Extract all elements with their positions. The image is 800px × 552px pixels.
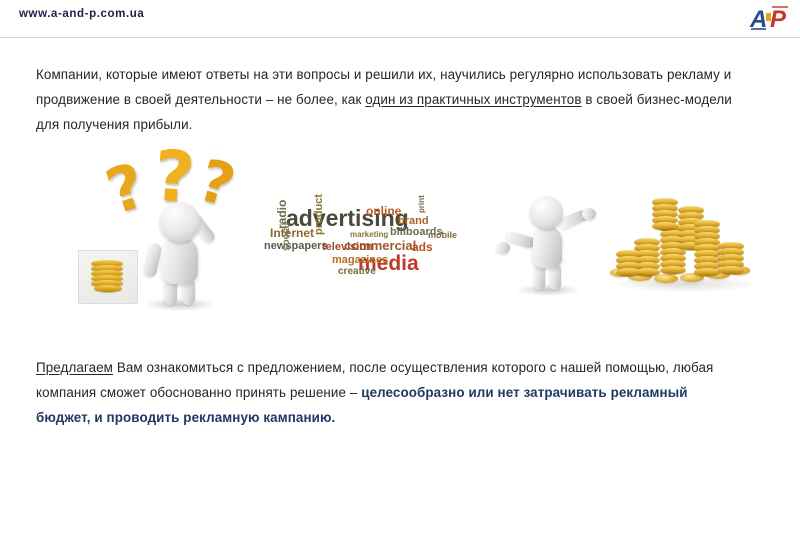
word-cloud-word: online: [366, 205, 401, 217]
figure-hand-right: [582, 208, 596, 220]
coin-stack-thumbnail: [78, 250, 138, 304]
page-header: www.a-and-p.com.ua A P: [0, 0, 800, 38]
question-mark-icon: ?: [99, 154, 152, 224]
word-cloud-word: social: [282, 223, 292, 251]
question-mark-icon: ?: [193, 150, 241, 215]
figure-head: [530, 196, 563, 229]
figure-shadow: [516, 284, 580, 296]
word-cloud-word: brand: [398, 216, 429, 227]
a-and-p-logo[interactable]: A P: [748, 2, 792, 34]
figure-head: [160, 202, 200, 242]
figure-hand-left: [496, 242, 510, 254]
paragraph-top-underlined: один из практичных инструментов: [365, 92, 581, 107]
word-cloud-word: magazines: [332, 255, 388, 266]
site-url-text: www.a-and-p.com.ua: [19, 8, 144, 20]
word-cloud-word: product: [314, 194, 325, 235]
word-cloud-word: print: [418, 195, 426, 213]
word-cloud-word: mobile: [428, 231, 457, 240]
figure-body: [162, 236, 198, 284]
coin-stack: [91, 260, 125, 294]
image-strip: ? ? ? advertisingmediaco: [0, 140, 800, 310]
gold-coin-stacks: [606, 180, 764, 298]
thinking-man-figure: ? ? ?: [78, 140, 256, 305]
word-cloud-word: television: [322, 242, 373, 253]
white-figure-open-arms: [484, 188, 606, 296]
word-cloud-word: creative: [338, 267, 376, 277]
word-cloud-word: ads: [412, 241, 433, 253]
word-cloud-word: marketing: [350, 231, 388, 239]
figure-shadow: [144, 298, 216, 311]
advertising-word-cloud: advertisingmediacommercialnewspapersInte…: [262, 185, 454, 297]
word-cloud-word: newspapers: [264, 241, 328, 252]
paragraph-bottom-underlined: Предлагаем: [36, 360, 113, 375]
figure-body: [533, 226, 562, 268]
header-divider: [0, 37, 800, 38]
paragraph-bottom: Предлагаем Вам ознакомиться с предложени…: [36, 355, 736, 430]
figure-arm-left: [143, 242, 163, 278]
svg-text:P: P: [770, 6, 787, 33]
paragraph-top: Компании, которые имеют ответы на эти во…: [36, 62, 752, 137]
slide-page: www.a-and-p.com.ua A P Компании, которые…: [0, 0, 800, 552]
